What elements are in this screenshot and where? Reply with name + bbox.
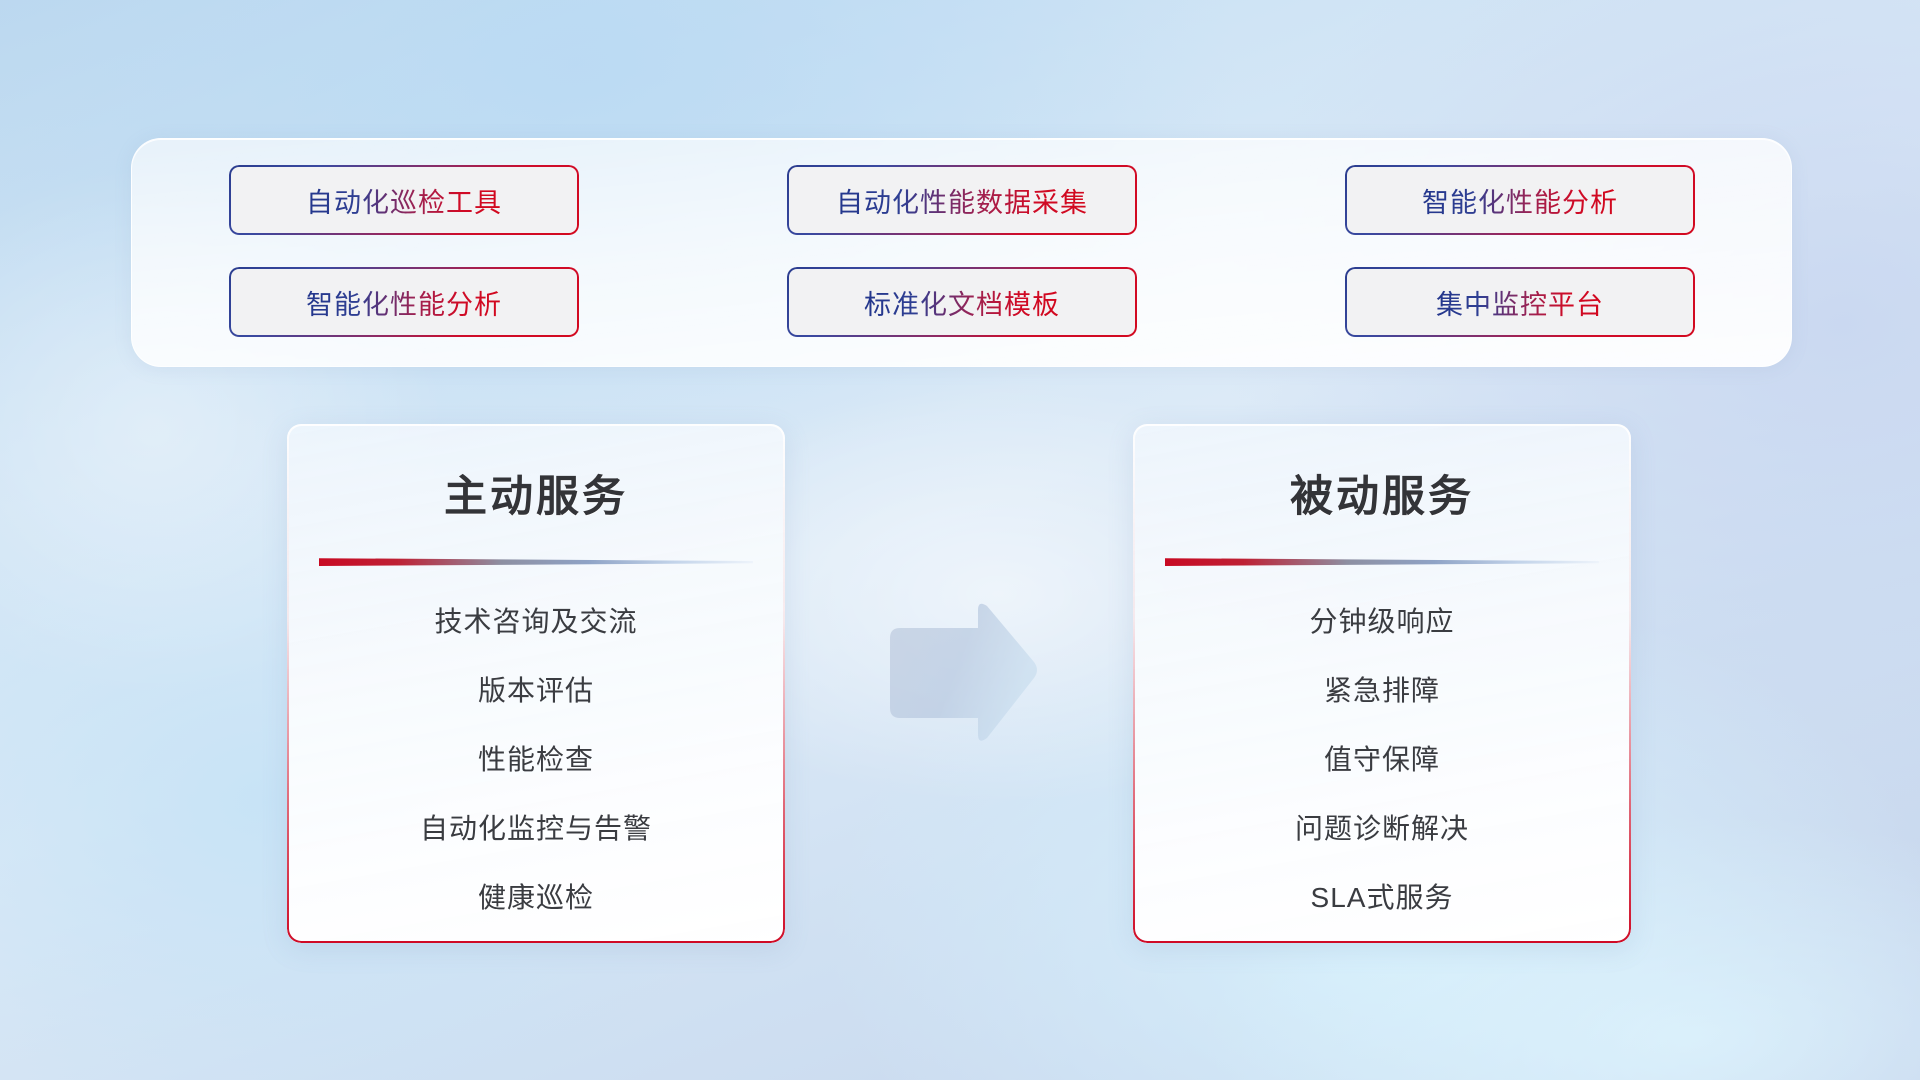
list-item[interactable]: 分钟级响应 — [1309, 600, 1454, 640]
capability-pill[interactable]: 标准化文档模板 — [787, 267, 1137, 337]
list-item[interactable]: 技术咨询及交流 — [434, 600, 637, 640]
card-item-list: 分钟级响应 紧急排障 值守保障 问题诊断解决 SLA式服务 — [1133, 600, 1631, 916]
list-item[interactable]: 性能检查 — [478, 738, 594, 778]
capability-pill[interactable]: 智能化性能分析 — [229, 267, 579, 337]
arrow-right-icon — [882, 600, 1040, 748]
list-item[interactable]: 问题诊断解决 — [1295, 807, 1469, 847]
list-item[interactable]: SLA式服务 — [1311, 876, 1454, 916]
capability-pill-label: 标准化文档模板 — [864, 283, 1060, 322]
list-item[interactable]: 紧急排障 — [1324, 669, 1440, 709]
list-item[interactable]: 自动化监控与告警 — [420, 807, 652, 847]
card-title: 被动服务 — [1133, 462, 1631, 524]
card-title-rule — [319, 554, 753, 564]
capability-pill-label: 自动化巡检工具 — [306, 181, 502, 220]
service-card-proactive[interactable]: 主动服务 技术咨询及交流 版本评估 性能检查 — [287, 424, 785, 943]
service-card-reactive[interactable]: 被动服务 分钟级响应 紧急排障 值守保障 — [1133, 424, 1631, 943]
capability-pill[interactable]: 集中监控平台 — [1345, 267, 1695, 337]
capability-pill-label: 集中监控平台 — [1436, 283, 1604, 322]
capability-pill-grid: 自动化巡检工具 自动化性能数据采集 智能化性能分析 智能化性能分析 标准化文档模… — [229, 165, 1695, 337]
card-title-rule — [1165, 554, 1599, 564]
card-item-list: 技术咨询及交流 版本评估 性能检查 自动化监控与告警 健康巡检 — [287, 600, 785, 916]
capability-pill-label: 智能化性能分析 — [1422, 181, 1618, 220]
capability-pill[interactable]: 智能化性能分析 — [1345, 165, 1695, 235]
slide-canvas: 自动化巡检工具 自动化性能数据采集 智能化性能分析 智能化性能分析 标准化文档模… — [0, 0, 1920, 1080]
list-item[interactable]: 值守保障 — [1324, 738, 1440, 778]
capability-pill[interactable]: 自动化巡检工具 — [229, 165, 579, 235]
list-item[interactable]: 版本评估 — [478, 669, 594, 709]
list-item[interactable]: 健康巡检 — [478, 876, 594, 916]
capability-pill-label: 智能化性能分析 — [306, 283, 502, 322]
capability-pill[interactable]: 自动化性能数据采集 — [787, 165, 1137, 235]
card-title: 主动服务 — [287, 462, 785, 524]
capability-pill-label: 自动化性能数据采集 — [836, 181, 1088, 220]
capability-panel: 自动化巡检工具 自动化性能数据采集 智能化性能分析 智能化性能分析 标准化文档模… — [131, 138, 1792, 367]
